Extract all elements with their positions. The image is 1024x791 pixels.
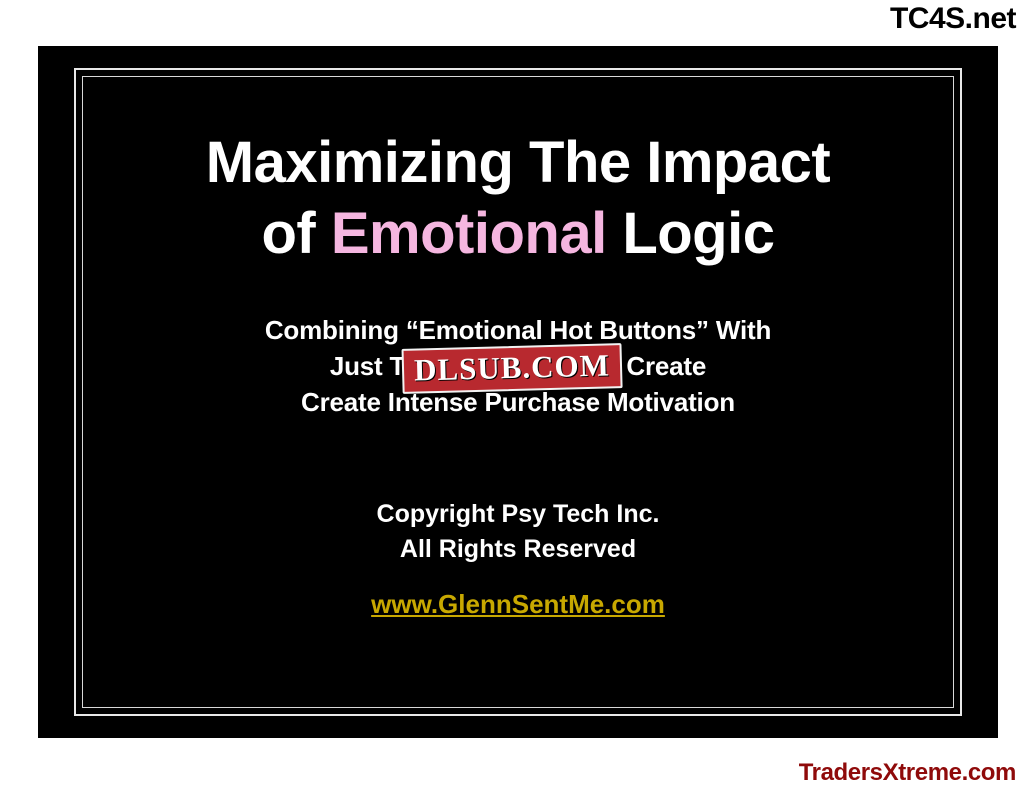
slide-title-line-2: of Emotional Logic: [98, 199, 938, 270]
website-link[interactable]: www.GlennSentMe.com: [371, 589, 665, 620]
slide-title: Maximizing The Impact of Emotional Logic: [98, 128, 938, 270]
watermark-top-right: TC4S.net: [890, 2, 1016, 36]
presentation-slide: Maximizing The Impact of Emotional Logic…: [38, 46, 998, 738]
watermark-bottom-right: TradersXtreme.com: [799, 759, 1016, 787]
copyright-line-2: All Rights Reserved: [98, 532, 938, 567]
slide-title-line-2-prefix: of: [262, 201, 331, 266]
copyright-line-1: Copyright Psy Tech Inc.: [98, 497, 938, 532]
slide-subtitle-line-1: Combining “Emotional Hot Buttons” With: [98, 312, 938, 348]
slide-copyright: Copyright Psy Tech Inc. All Rights Reser…: [98, 497, 938, 567]
slide-title-highlight: Emotional: [331, 201, 607, 266]
slide-content: Maximizing The Impact of Emotional Logic…: [98, 104, 938, 698]
slide-title-line-2-suffix: Logic: [607, 201, 775, 266]
watermark-center-stamp: DLSUB.COM: [402, 343, 623, 394]
slide-title-line-1: Maximizing The Impact: [98, 128, 938, 199]
